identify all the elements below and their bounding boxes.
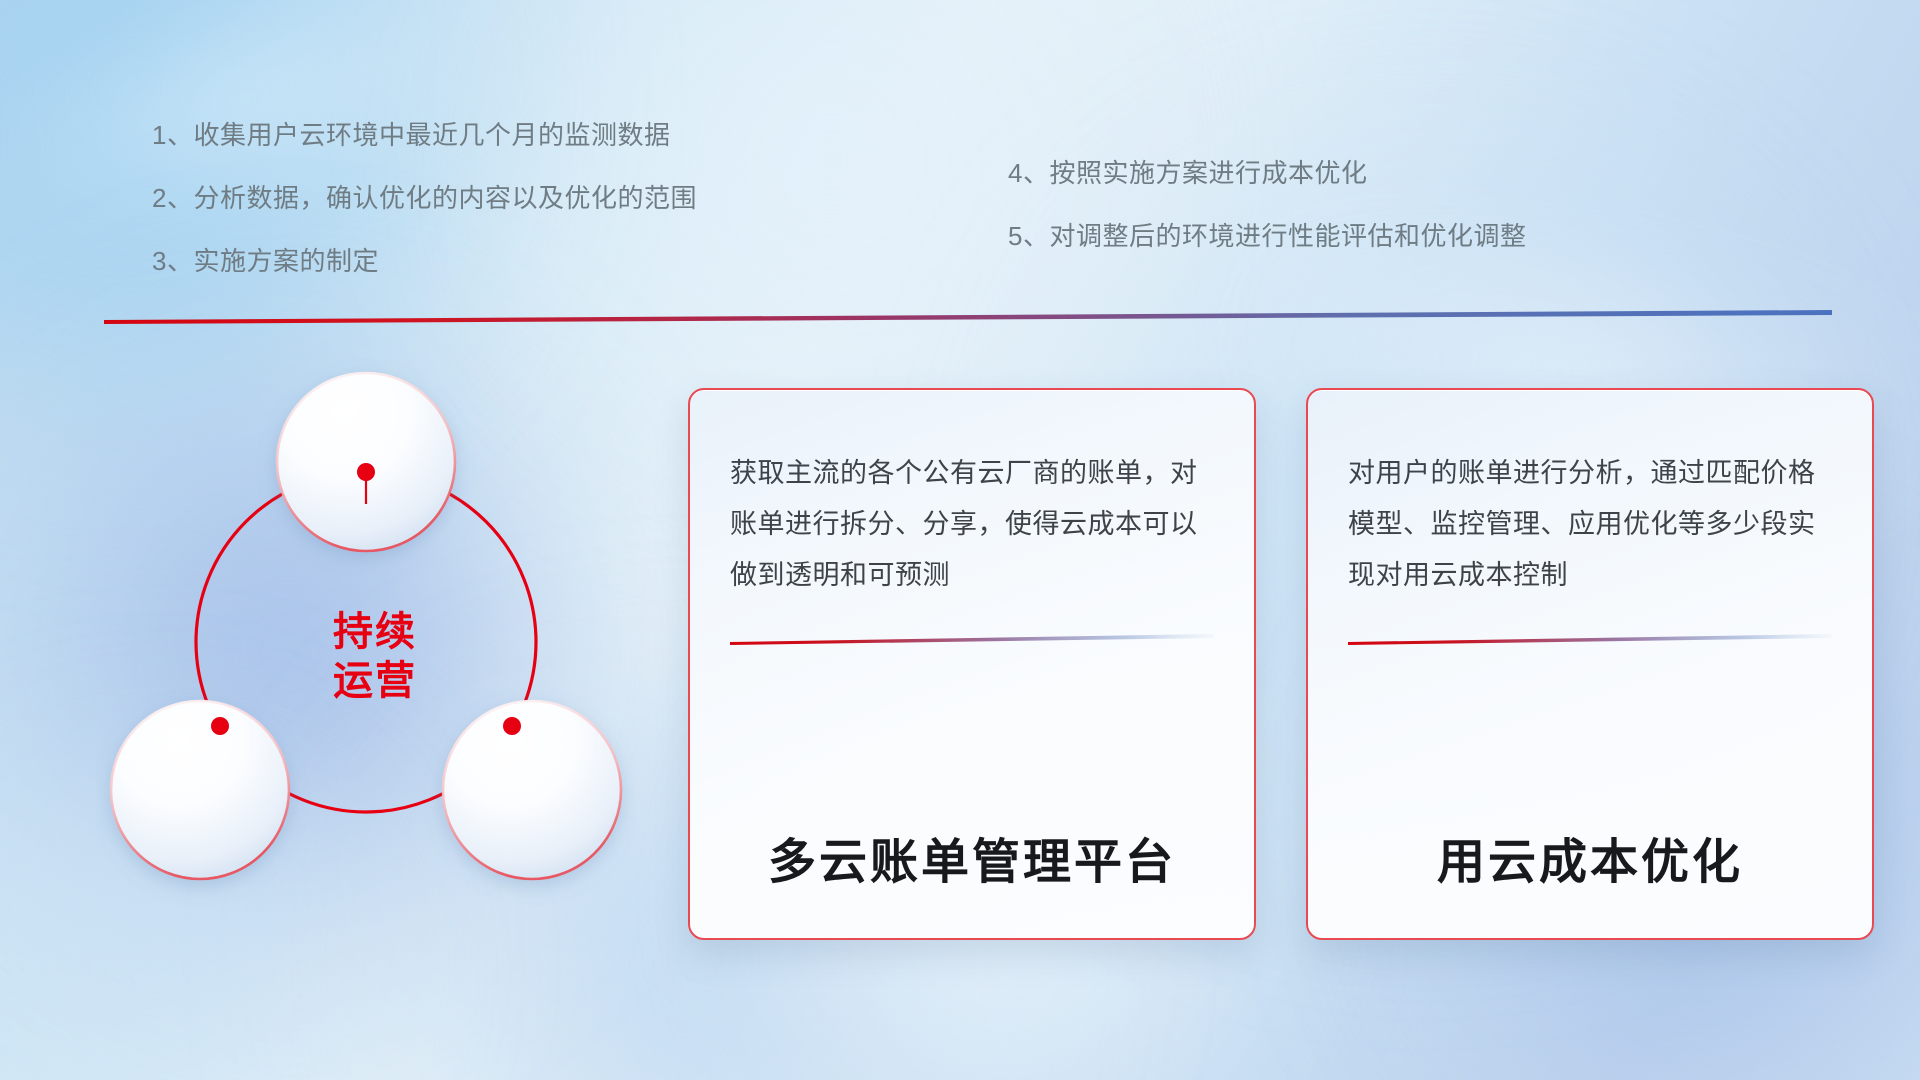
step-item-4: 4、按照实施方案进行成本优化 bbox=[1008, 160, 1526, 186]
card-body-text: 获取主流的各个公有云厂商的账单，对账单进行拆分、分享，使得云成本可以做到透明和可… bbox=[730, 448, 1214, 600]
bubble-operation bbox=[111, 701, 289, 879]
section-divider bbox=[104, 310, 1832, 324]
feature-card-cloud-cost-optimization[interactable]: 对用户的账单进行分析，通过匹配价格模型、监控管理、应用优化等多少段实现对用云成本… bbox=[1306, 388, 1874, 940]
step-item-2: 2、分析数据，确认优化的内容以及优化的范围 bbox=[152, 185, 697, 211]
bubble-bill-analysis bbox=[277, 373, 455, 551]
card-title: 用云成本优化 bbox=[1348, 822, 1832, 938]
center-ring-label: 持续 运营 bbox=[280, 608, 470, 706]
card-divider bbox=[1348, 632, 1832, 643]
card-title: 多云账单管理平台 bbox=[730, 822, 1214, 938]
card-divider bbox=[730, 632, 1214, 643]
ring-node-top bbox=[357, 463, 375, 481]
step-item-3: 3、实施方案的制定 bbox=[152, 248, 697, 274]
bubble-optimization-policy bbox=[443, 701, 621, 879]
center-label-line2: 运营 bbox=[280, 657, 470, 706]
step-item-1: 1、收集用户云环境中最近几个月的监测数据 bbox=[152, 122, 697, 148]
steps-list-left: 1、收集用户云环境中最近几个月的监测数据 2、分析数据，确认优化的内容以及优化的… bbox=[152, 122, 697, 311]
step-item-5: 5、对调整后的环境进行性能评估和优化调整 bbox=[1008, 223, 1526, 249]
card-body-text: 对用户的账单进行分析，通过匹配价格模型、监控管理、应用优化等多少段实现对用云成本… bbox=[1348, 448, 1832, 600]
feature-card-multi-cloud-billing[interactable]: 获取主流的各个公有云厂商的账单，对账单进行拆分、分享，使得云成本可以做到透明和可… bbox=[688, 388, 1256, 940]
steps-list-right: 4、按照实施方案进行成本优化 5、对调整后的环境进行性能评估和优化调整 bbox=[1008, 160, 1526, 286]
center-label-line1: 持续 bbox=[280, 608, 470, 657]
